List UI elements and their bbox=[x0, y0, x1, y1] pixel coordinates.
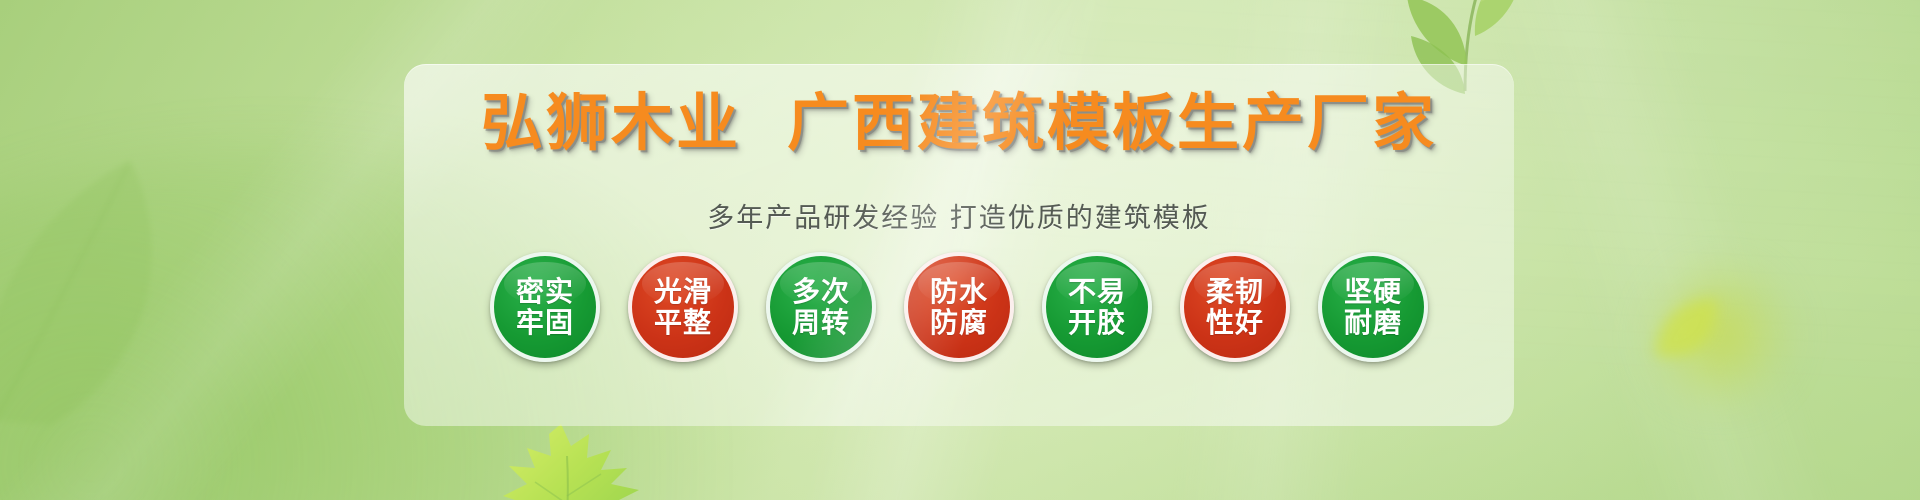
company-title: 弘狮木业 bbox=[481, 86, 741, 159]
feature-badge: 坚硬 耐磨 bbox=[1318, 252, 1428, 362]
badge-line-2: 耐磨 bbox=[1344, 307, 1402, 338]
badge-line-1: 防水 bbox=[930, 276, 988, 307]
badge-line-1: 坚硬 bbox=[1344, 276, 1402, 307]
subtitle: 多年产品研发经验 打造优质的建筑模板 bbox=[404, 196, 1514, 235]
badge-line-2: 牢固 bbox=[516, 307, 574, 338]
badge-line-2: 平整 bbox=[654, 307, 712, 338]
badge-line-2: 周转 bbox=[792, 307, 850, 338]
product-title: 广西建筑模板生产厂家 bbox=[787, 86, 1437, 159]
leaf-glow-right-icon bbox=[1635, 285, 1755, 385]
headline: 弘狮木业广西建筑模板生产厂家 bbox=[404, 90, 1514, 155]
badge-line-2: 防腐 bbox=[930, 307, 988, 338]
badge-line-1: 多次 bbox=[792, 276, 850, 307]
badge-line-1: 密实 bbox=[516, 276, 574, 307]
badge-line-1: 柔韧 bbox=[1206, 276, 1264, 307]
feature-badge: 防水 防腐 bbox=[904, 252, 1014, 362]
feature-badge: 不易 开胶 bbox=[1042, 252, 1152, 362]
feature-badge-row: 密实 牢固 光滑 平整 多次 周转 防水 防腐 不易 开胶 柔韧 性好 bbox=[404, 252, 1514, 362]
feature-badge: 光滑 平整 bbox=[628, 252, 738, 362]
feature-badge: 密实 牢固 bbox=[490, 252, 600, 362]
leaf-blur-left-icon bbox=[0, 120, 290, 450]
content-panel: 弘狮木业广西建筑模板生产厂家 多年产品研发经验 打造优质的建筑模板 密实 牢固 … bbox=[404, 64, 1514, 426]
badge-line-2: 开胶 bbox=[1068, 307, 1126, 338]
badge-line-1: 不易 bbox=[1068, 276, 1126, 307]
feature-badge: 多次 周转 bbox=[766, 252, 876, 362]
badge-line-1: 光滑 bbox=[654, 276, 712, 307]
promo-banner: 弘狮木业广西建筑模板生产厂家 多年产品研发经验 打造优质的建筑模板 密实 牢固 … bbox=[0, 0, 1920, 500]
badge-line-2: 性好 bbox=[1206, 307, 1264, 338]
feature-badge: 柔韧 性好 bbox=[1180, 252, 1290, 362]
maple-leaf-bottom-icon bbox=[497, 420, 677, 500]
